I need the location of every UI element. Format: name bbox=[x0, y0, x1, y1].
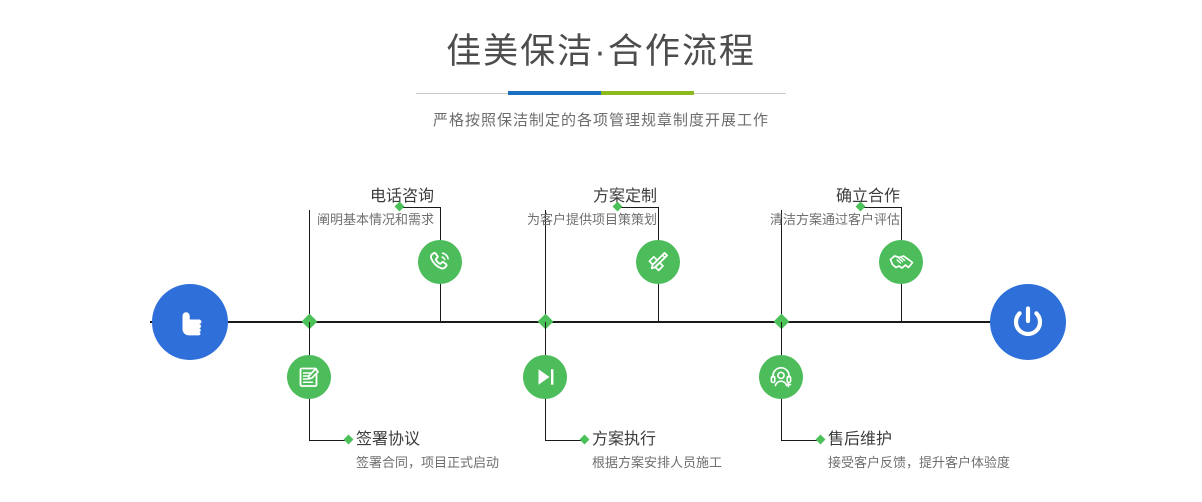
step-title: 方案定制 bbox=[527, 186, 657, 208]
handshake-icon bbox=[888, 249, 915, 276]
play-skip-icon bbox=[533, 365, 557, 389]
step-desc: 根据方案安排人员施工 bbox=[592, 453, 722, 473]
page-subtitle: 严格按照保洁制定的各项管理规章制度开展工作 bbox=[0, 109, 1202, 130]
step-label-marker bbox=[580, 435, 590, 445]
document-pen-icon bbox=[296, 364, 322, 390]
step-label-top: 电话咨询 阐明基本情况和需求 bbox=[317, 186, 434, 230]
timeline-start-endpoint bbox=[152, 284, 228, 360]
step-desc: 为客户提供项目策策划 bbox=[527, 210, 657, 230]
step-desc: 签署合同，项目正式启动 bbox=[356, 453, 499, 473]
step-title: 电话咨询 bbox=[317, 186, 434, 208]
step-label-top: 方案定制 为客户提供项目策策划 bbox=[527, 186, 657, 230]
power-icon bbox=[1006, 300, 1050, 344]
divider-blue-segment bbox=[508, 91, 601, 95]
pencil-ruler-icon bbox=[645, 249, 671, 275]
pointing-hand-icon bbox=[170, 302, 210, 342]
step-connector-vertical bbox=[309, 210, 310, 322]
timeline-end-endpoint bbox=[990, 284, 1066, 360]
step-icon-document-pen bbox=[287, 355, 331, 399]
step-desc: 接受客户反馈，提升客户体验度 bbox=[828, 453, 1010, 473]
headset-plus-icon bbox=[768, 364, 794, 390]
timeline-axis bbox=[150, 321, 1050, 323]
step-label-marker bbox=[816, 435, 826, 445]
step-title: 售后维护 bbox=[828, 429, 1010, 451]
step-connector-elbow bbox=[309, 440, 347, 441]
step-desc: 阐明基本情况和需求 bbox=[317, 210, 434, 230]
step-title: 签署协议 bbox=[356, 429, 499, 451]
step-icon-phone-call bbox=[418, 240, 462, 284]
divider-green-segment bbox=[601, 91, 694, 95]
step-title: 确立合作 bbox=[770, 186, 900, 208]
step-icon-handshake bbox=[879, 240, 923, 284]
step-icon-play-skip bbox=[523, 355, 567, 399]
page-title: 佳美保洁·合作流程 bbox=[0, 28, 1202, 76]
step-label-top: 确立合作 清洁方案通过客户评估 bbox=[770, 186, 900, 230]
step-label-bottom: 售后维护 接受客户反馈，提升客户体验度 bbox=[828, 429, 1010, 473]
step-connector-elbow bbox=[545, 440, 583, 441]
step-connector-elbow bbox=[781, 440, 819, 441]
header: 佳美保洁·合作流程 严格按照保洁制定的各项管理规章制度开展工作 bbox=[0, 28, 1202, 130]
step-icon-pencil-ruler bbox=[636, 240, 680, 284]
cooperation-process-infographic: 佳美保洁·合作流程 严格按照保洁制定的各项管理规章制度开展工作 bbox=[0, 0, 1202, 502]
step-desc: 清洁方案通过客户评估 bbox=[770, 210, 900, 230]
step-icon-headset-plus bbox=[759, 355, 803, 399]
phone-call-icon bbox=[427, 249, 453, 275]
step-label-bottom: 方案执行 根据方案安排人员施工 bbox=[592, 429, 722, 473]
step-label-marker bbox=[344, 435, 354, 445]
title-divider bbox=[416, 88, 786, 100]
step-title: 方案执行 bbox=[592, 429, 722, 451]
step-label-bottom: 签署协议 签署合同，项目正式启动 bbox=[356, 429, 499, 473]
